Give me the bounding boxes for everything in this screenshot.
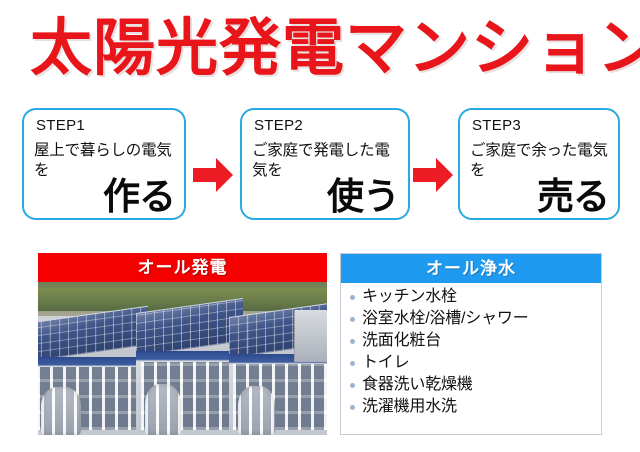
step-2-description: ご家庭で発電した電気を [252, 141, 404, 181]
bullet-icon [350, 295, 355, 300]
list-item: キッチン水栓 [341, 286, 601, 308]
bullet-icon [350, 405, 355, 410]
photo-building-1 [38, 322, 148, 435]
list-item: 洗面化粧台 [341, 330, 601, 352]
arrow-right-icon [192, 156, 234, 194]
photo-background-building [294, 310, 327, 362]
list-item-label: 食器洗い乾燥機 [362, 376, 473, 393]
photo-stair-tower-3 [238, 386, 275, 435]
water-feature-list: キッチン水栓 浴室水栓/浴槽/シャワー 洗面化粧台 トイレ 食器洗い乾燥機 洗濯… [341, 286, 601, 418]
solar-apartment-photo [38, 282, 327, 435]
step-card-3: STEP3 ご家庭で余った電気を 売る [458, 108, 620, 220]
bullet-icon [350, 339, 355, 344]
step-3-label: STEP3 [472, 117, 521, 134]
page-title: 太陽光発電マンション [30, 8, 620, 90]
list-item: トイレ [341, 352, 601, 374]
list-item: 食器洗い乾燥機 [341, 374, 601, 396]
list-item-label: 洗濯機用水洗 [362, 398, 457, 415]
photo-stair-tower-2 [145, 384, 181, 435]
water-panel: オール浄水 キッチン水栓 浴室水栓/浴槽/シャワー 洗面化粧台 トイレ 食器洗い… [340, 253, 602, 435]
list-item: 洗濯機用水洗 [341, 396, 601, 418]
bullet-icon [350, 317, 355, 322]
bullet-icon [350, 383, 355, 388]
step-2-label: STEP2 [254, 117, 303, 134]
step-3-description: ご家庭で余った電気を [470, 141, 622, 181]
step-card-2: STEP2 ご家庭で発電した電気を 使う [240, 108, 410, 220]
water-panel-header: オール浄水 [341, 254, 601, 283]
generation-panel: オール発電 [38, 253, 327, 435]
list-item-label: 浴室水栓/浴槽/シャワー [362, 310, 529, 327]
step-2-verb: 使う [327, 177, 399, 217]
bullet-icon [350, 361, 355, 366]
step-1-verb: 作る [103, 177, 175, 217]
list-item-label: トイレ [362, 354, 409, 371]
list-item: 浴室水栓/浴槽/シャワー [341, 308, 601, 330]
step-1-label: STEP1 [36, 117, 85, 134]
step-card-1: STEP1 屋上で暮らしの電気を 作る [22, 108, 186, 220]
arrow-right-icon [412, 156, 454, 194]
photo-building-2 [136, 313, 243, 435]
generation-panel-header: オール発電 [38, 253, 327, 282]
list-item-label: キッチン水栓 [362, 288, 457, 305]
step-3-verb: 売る [537, 177, 609, 217]
list-item-label: 洗面化粧台 [362, 332, 441, 349]
step-1-description: 屋上で暮らしの電気を [34, 141, 186, 181]
photo-stair-tower-1 [41, 387, 80, 435]
